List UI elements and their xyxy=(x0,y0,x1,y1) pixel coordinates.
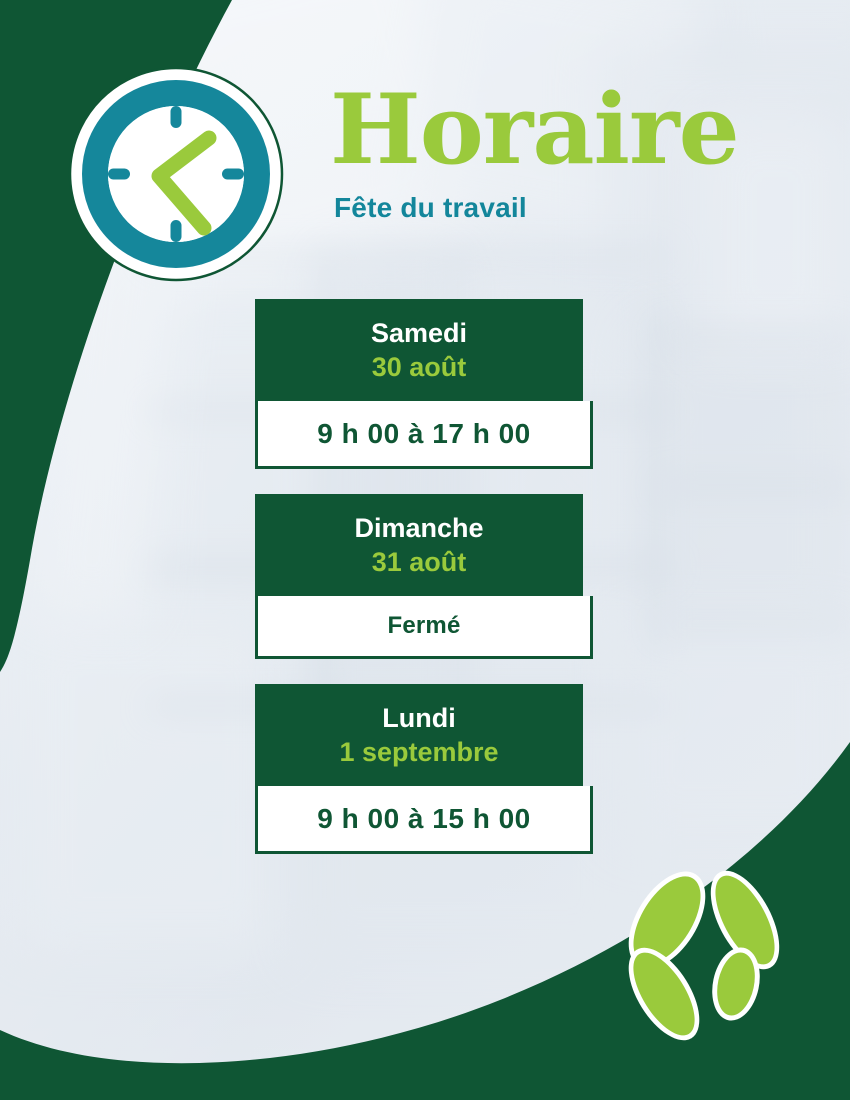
schedule-card-header: Lundi 1 septembre xyxy=(255,684,583,786)
schedule-card-date: 31 août xyxy=(265,546,573,580)
schedule-card-hours: 9 h 00 à 17 h 00 xyxy=(268,417,580,451)
schedule-card: Lundi 1 septembre 9 h 00 à 15 h 00 xyxy=(255,684,595,854)
horaire-poster: Horaire Fête du travail Samedi 30 août 9… xyxy=(0,0,850,1100)
schedule-card-day: Dimanche xyxy=(265,512,573,546)
schedule-card: Samedi 30 août 9 h 00 à 17 h 00 xyxy=(255,299,595,469)
schedule-card-date: 1 septembre xyxy=(265,736,573,770)
schedule-card-header: Dimanche 31 août xyxy=(255,494,583,596)
page-title: Horaire xyxy=(330,82,800,178)
schedule-card-day: Samedi xyxy=(265,317,573,351)
schedule-card-list: Samedi 30 août 9 h 00 à 17 h 00 Dimanche… xyxy=(255,299,595,854)
butterfly-logo-icon xyxy=(612,862,802,1052)
schedule-card: Dimanche 31 août Fermé xyxy=(255,494,595,659)
schedule-card-day: Lundi xyxy=(265,702,573,736)
schedule-card-hours: 9 h 00 à 15 h 00 xyxy=(268,802,580,836)
page-subtitle: Fête du travail xyxy=(334,192,800,224)
schedule-card-header: Samedi 30 août xyxy=(255,299,583,401)
clock-icon xyxy=(68,66,284,282)
schedule-card-hours: Fermé xyxy=(268,612,580,641)
schedule-card-date: 30 août xyxy=(265,351,573,385)
poster-heading: Horaire Fête du travail xyxy=(330,82,800,224)
schedule-card-body: 9 h 00 à 15 h 00 xyxy=(255,786,593,855)
schedule-card-body: Fermé xyxy=(255,596,593,660)
schedule-card-body: 9 h 00 à 17 h 00 xyxy=(255,401,593,470)
